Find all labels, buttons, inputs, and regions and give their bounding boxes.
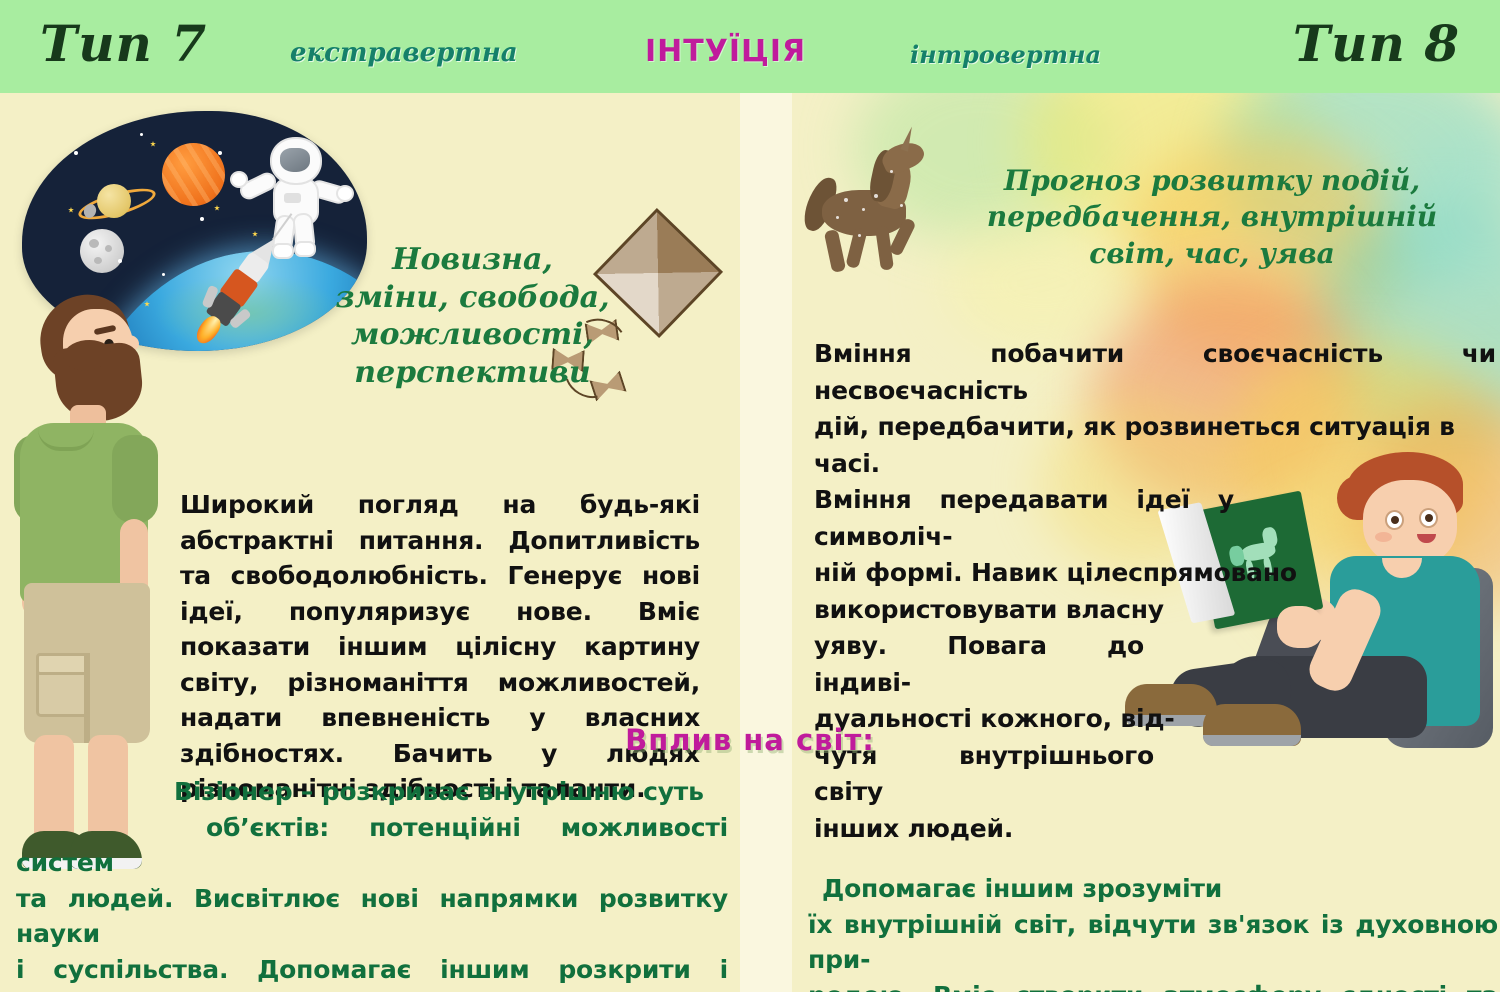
impact-heading: Вплив на світ: [0, 723, 1500, 757]
right-body-line-5: використовувати власну [814, 592, 1496, 629]
star-icon [118, 259, 122, 263]
left-impact-line-4: і суспільства. Допомагає іншим розкрити … [16, 952, 728, 992]
star-icon [68, 207, 74, 213]
star-icon [162, 273, 165, 276]
right-body-line-1: Вміння побачити своєчасність чи несвоєча… [814, 336, 1496, 409]
orange-planet-icon [162, 143, 225, 206]
right-impact-line-2: їх внутрішній світ, відчути зв'язок із д… [808, 907, 1498, 978]
right-body-line-2: дій, передбачити, як розвинеться ситуаці… [814, 409, 1496, 482]
left-body-paragraph: Широкий погляд на будь-які абстрактні пи… [180, 487, 700, 807]
star-icon [214, 205, 220, 211]
star-icon [74, 151, 78, 155]
right-body-line-3: Вміння передавати ідеї у символіч- [814, 482, 1234, 555]
right-body-line-9: інших людей. [814, 811, 1496, 848]
type-label-right: Тип 8 [1293, 14, 1460, 73]
moon-icon [80, 229, 124, 273]
right-impact-line-1: Допомагає іншим зрозуміти [808, 871, 1498, 907]
star-icon [200, 217, 204, 221]
left-impact-line-3: та людей. Висвітлює нові напрямки розвит… [16, 881, 728, 952]
star-icon [218, 151, 222, 155]
star-icon [140, 133, 143, 136]
type-label-left: Тип 7 [40, 14, 207, 73]
left-impact-line-2: об’єктів: потенційні можливості систем [16, 810, 728, 881]
left-impact-line-1: Візіонер – розкриває внутрішню суть [16, 774, 728, 810]
panel-divider [740, 93, 792, 992]
left-body-text: Широкий погляд на будь-які абстрактні пи… [180, 487, 700, 807]
introverted-label: інтровертна [910, 40, 1101, 69]
right-impact-line-3: родою. Вміє створити атмосферу єдності т… [808, 978, 1498, 992]
right-body-line-6: уяву. Повага до індиві- [814, 628, 1144, 701]
cosmic-unicorn-illustration [804, 138, 944, 278]
extraverted-label: екстравертна [290, 38, 518, 68]
header-bar: Тип 7 екстравертна ІНТУЇЦІЯ інтровертна … [0, 0, 1500, 93]
cargo-shorts [24, 583, 150, 743]
saturn-planet-icon [97, 184, 131, 218]
star-icon [150, 141, 156, 147]
astronaut-icon [240, 137, 340, 247]
right-panel: Прогноз розвитку подій, передбачення, вн… [792, 93, 1500, 992]
left-lead-text: Новизна, зміни, свобода, можливості, пер… [335, 241, 610, 391]
right-lead-text: Прогноз розвитку подій, передбачення, вн… [962, 163, 1462, 272]
left-impact-text: Візіонер – розкриває внутрішню суть об’є… [16, 774, 728, 992]
infographic-page: Тип 7 екстравертна ІНТУЇЦІЯ інтровертна … [0, 0, 1500, 992]
right-body-line-4: ній формі. Навик цілеспрямовано [814, 555, 1496, 592]
function-title: ІНТУЇЦІЯ [645, 34, 806, 69]
right-body-text: Вміння побачити своєчасність чи несвоєча… [814, 336, 1496, 847]
right-impact-text: Допомагає іншим зрозуміти їх внутрішній … [808, 871, 1498, 992]
